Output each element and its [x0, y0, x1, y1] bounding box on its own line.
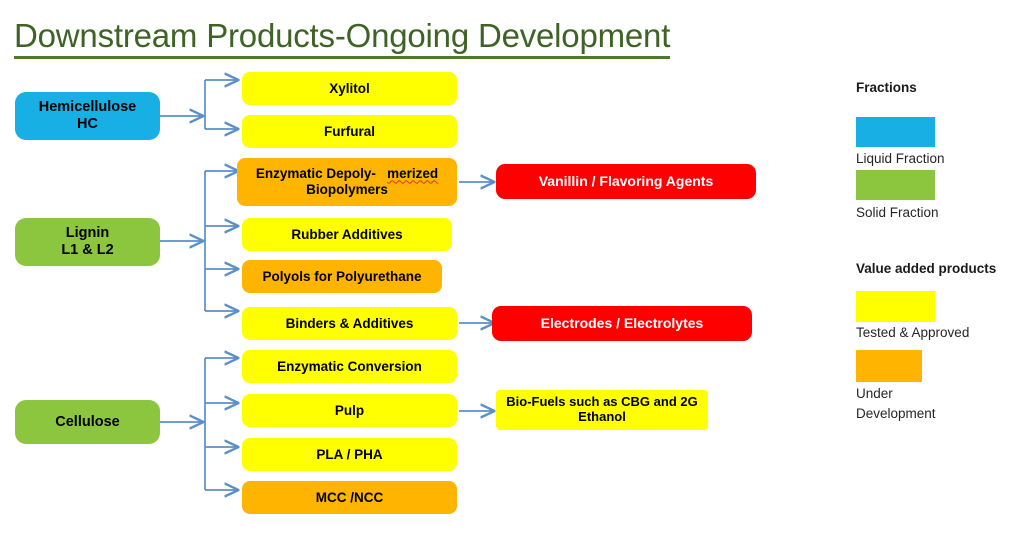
product-label-part-a: Enzymatic Depoly-	[256, 166, 376, 181]
product-node-polyols[interactable]: Polyols for Polyurethane	[242, 260, 442, 293]
source-label-line1: Lignin	[66, 225, 110, 241]
legend-swatch-liquid-fraction	[856, 117, 935, 147]
slide-canvas: Downstream Products-Ongoing Development	[0, 0, 1024, 552]
product-node-pulp[interactable]: Pulp	[242, 394, 457, 427]
product-node-pla-pha[interactable]: PLA / PHA	[242, 438, 457, 471]
product-label: Polyols for Polyurethane	[262, 269, 421, 285]
end-product-node-electrodes[interactable]: Electrodes / Electrolytes	[492, 306, 752, 341]
product-node-mcc-ncc[interactable]: MCC /NCC	[242, 481, 457, 514]
product-label: PLA / PHA	[316, 447, 382, 463]
legend-label-liquid-fraction: Liquid Fraction	[856, 150, 945, 167]
source-node-hemicellulose[interactable]: Hemicellulose HC	[15, 92, 160, 140]
legend-label-under-development-line1: Under	[856, 385, 893, 402]
product-node-furfural[interactable]: Furfural	[242, 115, 457, 148]
legend-title-value-added-products: Value added products	[856, 261, 996, 276]
end-product-label: Electrodes / Electrolytes	[541, 315, 704, 331]
source-node-lignin[interactable]: Lignin L1 & L2	[15, 218, 160, 266]
product-node-enzymatic-depoly[interactable]: Enzymatic Depoly- merized Biopolymers	[237, 158, 457, 206]
product-label: Pulp	[335, 403, 364, 419]
end-product-node-biofuels[interactable]: Bio-Fuels such as CBG and 2G Ethanol	[496, 390, 708, 430]
legend-swatch-under-development	[856, 350, 922, 382]
product-node-xylitol[interactable]: Xylitol	[242, 72, 457, 105]
end-product-label-line1: Bio-Fuels such as CBG and 2G	[506, 394, 697, 409]
product-label: MCC /NCC	[316, 490, 384, 506]
source-label-line2: L1 & L2	[61, 242, 113, 258]
legend-label-under-development-line2: Development	[856, 405, 936, 422]
source-label-line1: Hemicellulose	[39, 99, 137, 115]
source-node-cellulose[interactable]: Cellulose	[15, 400, 160, 444]
legend-label-tested-approved: Tested & Approved	[856, 324, 969, 341]
product-node-binders-additives[interactable]: Binders & Additives	[242, 307, 457, 340]
legend-label-solid-fraction: Solid Fraction	[856, 204, 939, 221]
product-label-part-c: Biopolymers	[306, 182, 388, 197]
product-label: Enzymatic Conversion	[277, 359, 422, 375]
product-label-part-b: merized	[387, 166, 438, 181]
legend-swatch-solid-fraction	[856, 170, 935, 200]
product-node-rubber-additives[interactable]: Rubber Additives	[242, 218, 452, 251]
legend-swatch-tested-approved	[856, 291, 935, 322]
source-label-line2: HC	[77, 116, 98, 132]
product-label: Xylitol	[329, 81, 370, 97]
product-label: Binders & Additives	[286, 316, 414, 332]
end-product-label: Vanillin / Flavoring Agents	[539, 173, 714, 189]
source-label-line1: Cellulose	[55, 414, 119, 431]
product-node-enzymatic-conversion[interactable]: Enzymatic Conversion	[242, 350, 457, 383]
legend-title-fractions: Fractions	[856, 80, 917, 95]
product-label: Rubber Additives	[291, 227, 402, 243]
end-product-label-line2: Ethanol	[578, 409, 626, 424]
page-title: Downstream Products-Ongoing Development	[14, 17, 670, 59]
end-product-node-vanillin[interactable]: Vanillin / Flavoring Agents	[496, 164, 756, 199]
product-label: Furfural	[324, 124, 375, 140]
